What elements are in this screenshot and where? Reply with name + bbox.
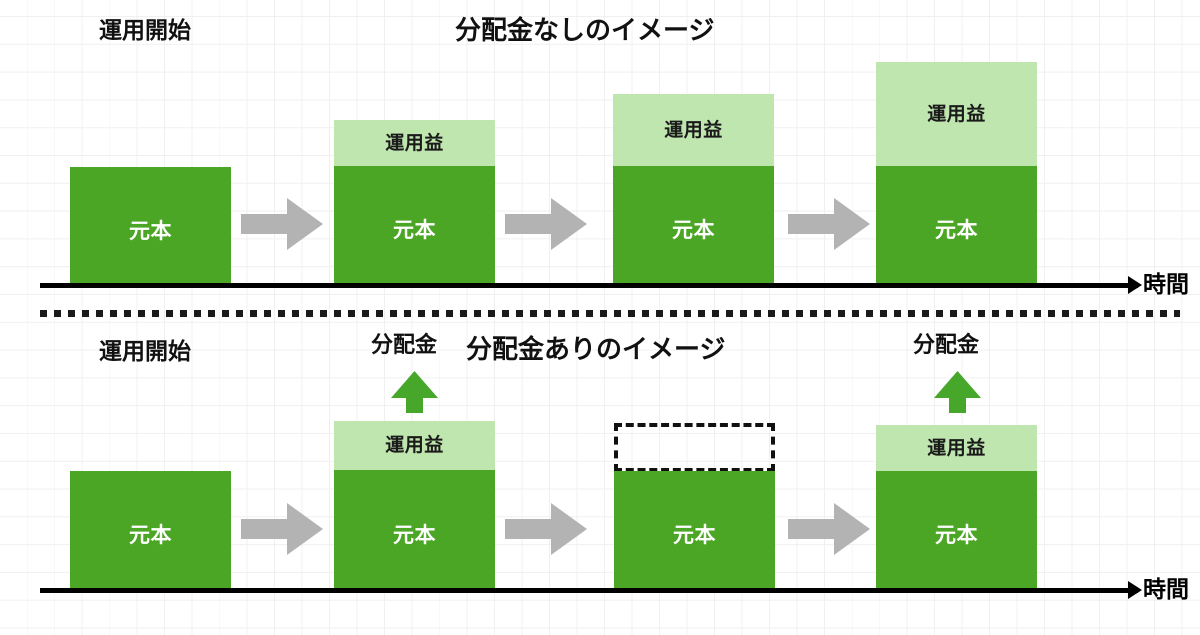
label-distribution-step-2: 分配金 [371,335,437,357]
transition-arrow-icon [788,503,870,555]
bar-top-step-3: 運用益 元本 [613,94,774,283]
segment-principal: 元本 [70,167,231,283]
panel-title-with-distribution: 分配金ありのイメージ [466,337,725,363]
segment-principal-label: 元本 [393,525,436,546]
bar-top-step-2: 運用益 元本 [334,120,495,283]
segment-gain: 運用益 [876,62,1037,166]
panel-title-without-distribution: 分配金なしのイメージ [455,18,714,44]
bar-top-step-1: 元本 [70,167,231,283]
segment-principal: 元本 [613,166,774,283]
time-axis-label-bottom: 時間 [1143,579,1189,602]
bar-bottom-step-4: 運用益 元本 [876,425,1037,588]
segment-principal-label: 元本 [393,220,436,241]
segment-principal-label: 元本 [129,525,172,546]
time-axis-label-top: 時間 [1143,274,1189,297]
distribution-arrow-icon-step-4 [934,371,981,413]
segment-gain-label: 運用益 [927,105,986,124]
transition-arrow-icon [788,198,870,250]
segment-principal: 元本 [614,471,775,588]
label-start-top: 運用開始 [99,20,191,43]
time-axis-line-bottom [40,588,1138,593]
transition-arrow-icon [241,503,323,555]
bar-bottom-step-3: 元本 [614,471,775,588]
segment-principal-label: 元本 [935,525,978,546]
transition-arrow-icon [241,198,323,250]
segment-gain: 運用益 [334,421,495,470]
segment-gain-label: 運用益 [927,439,986,458]
label-start-bottom: 運用開始 [99,341,191,364]
segment-principal: 元本 [334,166,495,283]
segment-gain: 運用益 [876,425,1037,471]
time-axis-arrow-icon-bottom [1128,581,1142,599]
segment-principal: 元本 [334,470,495,588]
segment-principal-label: 元本 [673,525,716,546]
label-distribution-step-4: 分配金 [913,335,979,357]
distribution-arrow-icon-step-2 [391,371,438,413]
segment-principal: 元本 [70,471,231,588]
segment-principal-label: 元本 [672,220,715,241]
diagram-canvas: 運用開始 分配金なしのイメージ 元本 運用益 元本 [0,0,1200,635]
segment-principal: 元本 [876,471,1037,588]
panel-separator [40,310,1180,317]
segment-gain-label: 運用益 [664,121,723,140]
segment-gain-label: 運用益 [385,134,444,153]
removed-gain-placeholder [614,423,775,472]
segment-gain: 運用益 [334,120,495,166]
bar-bottom-step-1: 元本 [70,471,231,588]
segment-principal-label: 元本 [935,220,978,241]
segment-gain: 運用益 [613,94,774,166]
bar-bottom-step-2: 運用益 元本 [334,421,495,588]
time-axis-arrow-icon-top [1128,276,1142,294]
time-axis-line-top [40,283,1138,288]
segment-principal-label: 元本 [129,221,172,242]
segment-gain-label: 運用益 [385,436,444,455]
transition-arrow-icon [505,198,587,250]
segment-principal: 元本 [876,166,1037,283]
transition-arrow-icon [505,503,587,555]
bar-top-step-4: 運用益 元本 [876,62,1037,283]
